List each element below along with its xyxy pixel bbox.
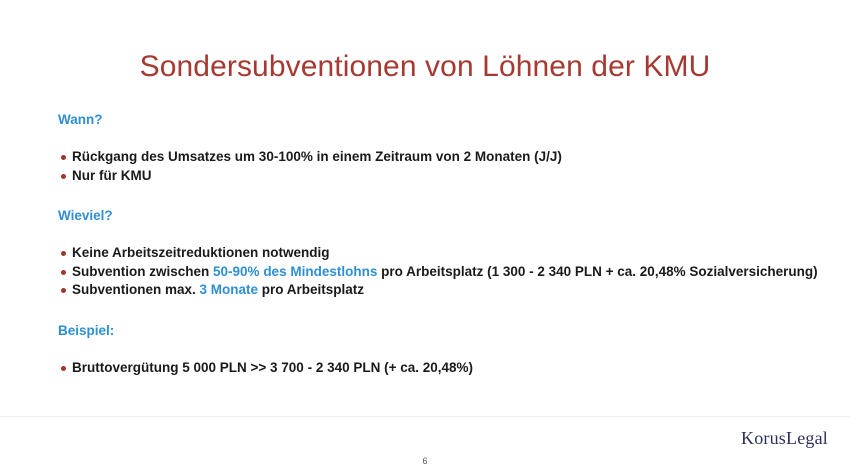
section-wieviel: Wieviel? Keine Arbeitszeitreduktionen no… (58, 208, 818, 300)
spacer (58, 128, 818, 148)
list-item: Nur für KMU (58, 167, 818, 186)
text-run: Subventionen max. (72, 282, 200, 297)
koruslegal-logo: KorusLegal (741, 428, 828, 449)
footer-divider (0, 416, 850, 417)
text-run: pro Arbeitsplatz (1 300 - 2 340 PLN + ca… (377, 264, 817, 279)
section-heading: Wieviel? (58, 208, 818, 224)
spacer (58, 224, 818, 244)
list-item: Rückgang des Umsatzes um 30-100% in eine… (58, 148, 818, 167)
text-run: Rückgang des Umsatzes um 30-100% in eine… (72, 149, 562, 164)
list-item: Subventionen max. 3 Monate pro Arbeitspl… (58, 281, 818, 300)
bullet-list: Rückgang des Umsatzes um 30-100% in eine… (58, 148, 818, 185)
highlighted-text: 3 Monate (200, 282, 259, 297)
page-number: 6 (0, 456, 850, 466)
list-item: Subvention zwischen 50-90% des Mindestlo… (58, 263, 818, 282)
section-wann: Wann? Rückgang des Umsatzes um 30-100% i… (58, 112, 818, 185)
text-run: Bruttovergütung 5 000 PLN >> 3 700 - 2 3… (72, 360, 473, 375)
text-run: Subvention zwischen (72, 264, 213, 279)
highlighted-text: 50-90% des Mindestlohns (213, 264, 377, 279)
section-heading: Wann? (58, 112, 818, 128)
slide: Sondersubventionen von Löhnen der KMU Wa… (0, 0, 850, 476)
section-heading: Beispiel: (58, 323, 818, 339)
text-run: Nur für KMU (72, 168, 152, 183)
page-title: Sondersubventionen von Löhnen der KMU (0, 50, 850, 84)
slide-body: Wann? Rückgang des Umsatzes um 30-100% i… (58, 112, 818, 378)
bullet-list: Keine Arbeitszeitreduktionen notwendig S… (58, 244, 818, 300)
text-run: Keine Arbeitszeitreduktionen notwendig (72, 245, 330, 260)
text-run: pro Arbeitsplatz (258, 282, 364, 297)
spacer (58, 185, 818, 208)
section-beispiel: Beispiel: Bruttovergütung 5 000 PLN >> 3… (58, 323, 818, 378)
spacer (58, 300, 818, 323)
list-item: Bruttovergütung 5 000 PLN >> 3 700 - 2 3… (58, 359, 818, 378)
bullet-list: Bruttovergütung 5 000 PLN >> 3 700 - 2 3… (58, 359, 818, 378)
spacer (58, 339, 818, 359)
list-item: Keine Arbeitszeitreduktionen notwendig (58, 244, 818, 263)
